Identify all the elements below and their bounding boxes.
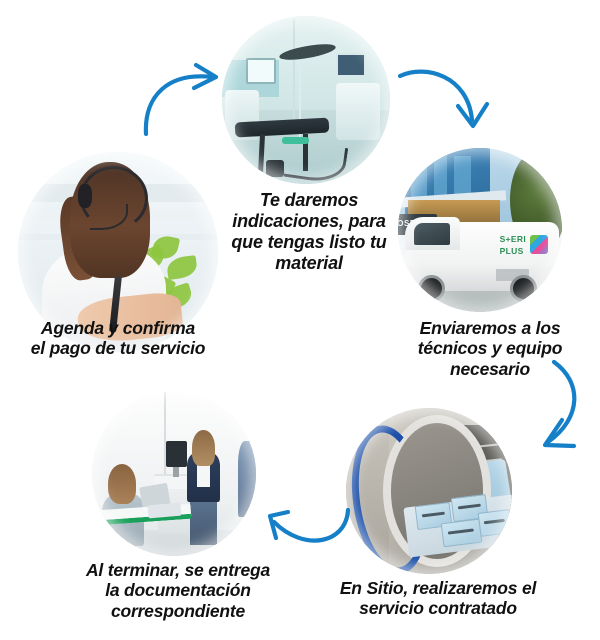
step-5-image-circle bbox=[92, 392, 256, 556]
operating-room-photo bbox=[222, 16, 390, 184]
step-3-caption: Enviaremos a los técnicos y equipo neces… bbox=[392, 318, 588, 379]
steriplus-logo-mark bbox=[530, 235, 548, 254]
step-4-caption: En Sitio, realizaremos el servicio contr… bbox=[312, 578, 564, 619]
infographic-canvas: Agenda y confirma el pago de tu servicio… bbox=[0, 0, 600, 640]
steriplus-logo: S+ERI PLUS bbox=[500, 233, 549, 259]
step-4-image-circle bbox=[346, 408, 512, 574]
arrow-step4-to-step5 bbox=[252, 496, 356, 562]
arrow-step2-to-step3 bbox=[398, 58, 504, 150]
step-2-caption: Te daremos indicaciones, para que tengas… bbox=[216, 190, 402, 274]
step-5-caption: Al terminar, se entrega la documentación… bbox=[54, 560, 302, 621]
step-1-caption: Agenda y confirma el pago de tu servicio bbox=[6, 318, 230, 359]
step-2-image-circle bbox=[222, 16, 390, 184]
step-3-image-circle: OSPITAL S+ERI PLUS bbox=[398, 148, 562, 312]
steriplus-logo-line2: PLUS bbox=[500, 246, 524, 256]
steriplus-van-photo: OSPITAL S+ERI PLUS bbox=[398, 148, 562, 312]
autoclave-sterilizer-photo bbox=[346, 408, 512, 574]
documentation-office-photo bbox=[92, 392, 256, 556]
steriplus-logo-line1: S+ERI bbox=[500, 234, 526, 244]
